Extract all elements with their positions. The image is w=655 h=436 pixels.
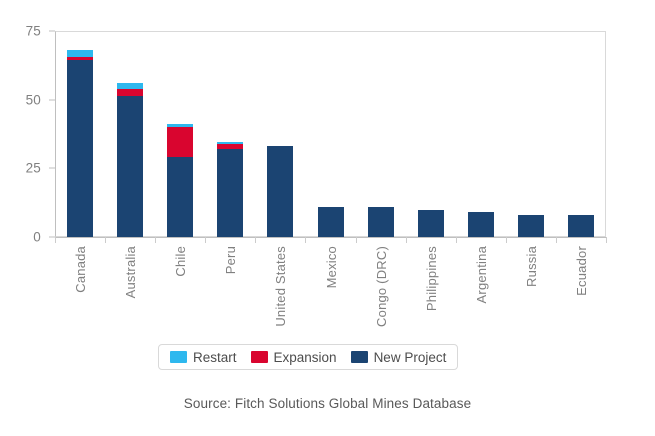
- bar-segment[interactable]: [117, 96, 143, 237]
- bar-segment[interactable]: [418, 210, 444, 237]
- legend-item[interactable]: Restart: [170, 350, 237, 365]
- y-tick-label: 75: [26, 24, 41, 39]
- bar-segment[interactable]: [468, 212, 494, 237]
- x-tick-mark: [155, 237, 156, 243]
- x-tick-mark: [556, 237, 557, 243]
- x-axis-label: Canada: [73, 246, 88, 293]
- y-axis: 0255075: [0, 0, 55, 300]
- legend-item[interactable]: Expansion: [251, 350, 337, 365]
- x-axis-label: Ecuador: [574, 246, 589, 296]
- legend-label: Restart: [193, 350, 237, 365]
- x-tick-mark: [305, 237, 306, 243]
- x-axis-label: Mexico: [324, 246, 339, 288]
- x-tick-mark: [456, 237, 457, 243]
- x-tick-mark: [205, 237, 206, 243]
- bar-stack[interactable]: [267, 31, 293, 237]
- source-note: Source: Fitch Solutions Global Mines Dat…: [0, 396, 655, 411]
- bar-segment[interactable]: [67, 60, 93, 237]
- legend-label: New Project: [374, 350, 447, 365]
- bar-stack[interactable]: [167, 31, 193, 237]
- x-axis-label: Chile: [173, 246, 188, 277]
- bars-layer: [55, 31, 606, 237]
- legend-swatch-icon: [351, 351, 368, 363]
- bar-stack[interactable]: [368, 31, 394, 237]
- bar-segment[interactable]: [217, 149, 243, 237]
- x-axis-label: United States: [273, 246, 288, 327]
- bar-stack[interactable]: [217, 31, 243, 237]
- bar-stack[interactable]: [518, 31, 544, 237]
- legend-label: Expansion: [274, 350, 337, 365]
- bar-segment[interactable]: [117, 89, 143, 96]
- legend-item[interactable]: New Project: [351, 350, 447, 365]
- bar-stack[interactable]: [318, 31, 344, 237]
- x-tick-mark: [255, 237, 256, 243]
- x-tick-mark: [606, 237, 607, 243]
- bar-stack[interactable]: [418, 31, 444, 237]
- bar-segment[interactable]: [167, 127, 193, 157]
- x-axis-label: Philippines: [424, 246, 439, 311]
- x-tick-mark: [105, 237, 106, 243]
- chart-legend: RestartExpansionNew Project: [158, 344, 458, 370]
- x-tick-mark: [406, 237, 407, 243]
- bar-segment[interactable]: [267, 146, 293, 237]
- x-axis-label: Australia: [123, 246, 138, 298]
- y-tick-label: 0: [33, 230, 41, 245]
- bar-stack[interactable]: [67, 31, 93, 237]
- x-axis-label: Congo (DRC): [374, 246, 389, 327]
- bar-stack[interactable]: [468, 31, 494, 237]
- x-axis-label: Peru: [223, 246, 238, 274]
- bar-segment[interactable]: [67, 50, 93, 57]
- bar-stack[interactable]: [568, 31, 594, 237]
- bar-segment[interactable]: [318, 207, 344, 237]
- x-tick-mark: [356, 237, 357, 243]
- y-tick-label: 25: [26, 161, 41, 176]
- legend-swatch-icon: [251, 351, 268, 363]
- x-tick-mark: [55, 237, 56, 243]
- bar-segment[interactable]: [568, 215, 594, 237]
- x-axis-label: Russia: [524, 246, 539, 287]
- bar-segment[interactable]: [518, 215, 544, 237]
- legend-swatch-icon: [170, 351, 187, 363]
- bar-segment[interactable]: [368, 207, 394, 237]
- bar-stack[interactable]: [117, 31, 143, 237]
- y-tick-label: 50: [26, 92, 41, 107]
- x-tick-mark: [506, 237, 507, 243]
- bar-segment[interactable]: [167, 157, 193, 237]
- x-axis-label: Argentina: [474, 246, 489, 303]
- chart-container: 0255075 RestartExpansionNew Project Sour…: [0, 0, 655, 436]
- x-axis-line: [55, 237, 606, 238]
